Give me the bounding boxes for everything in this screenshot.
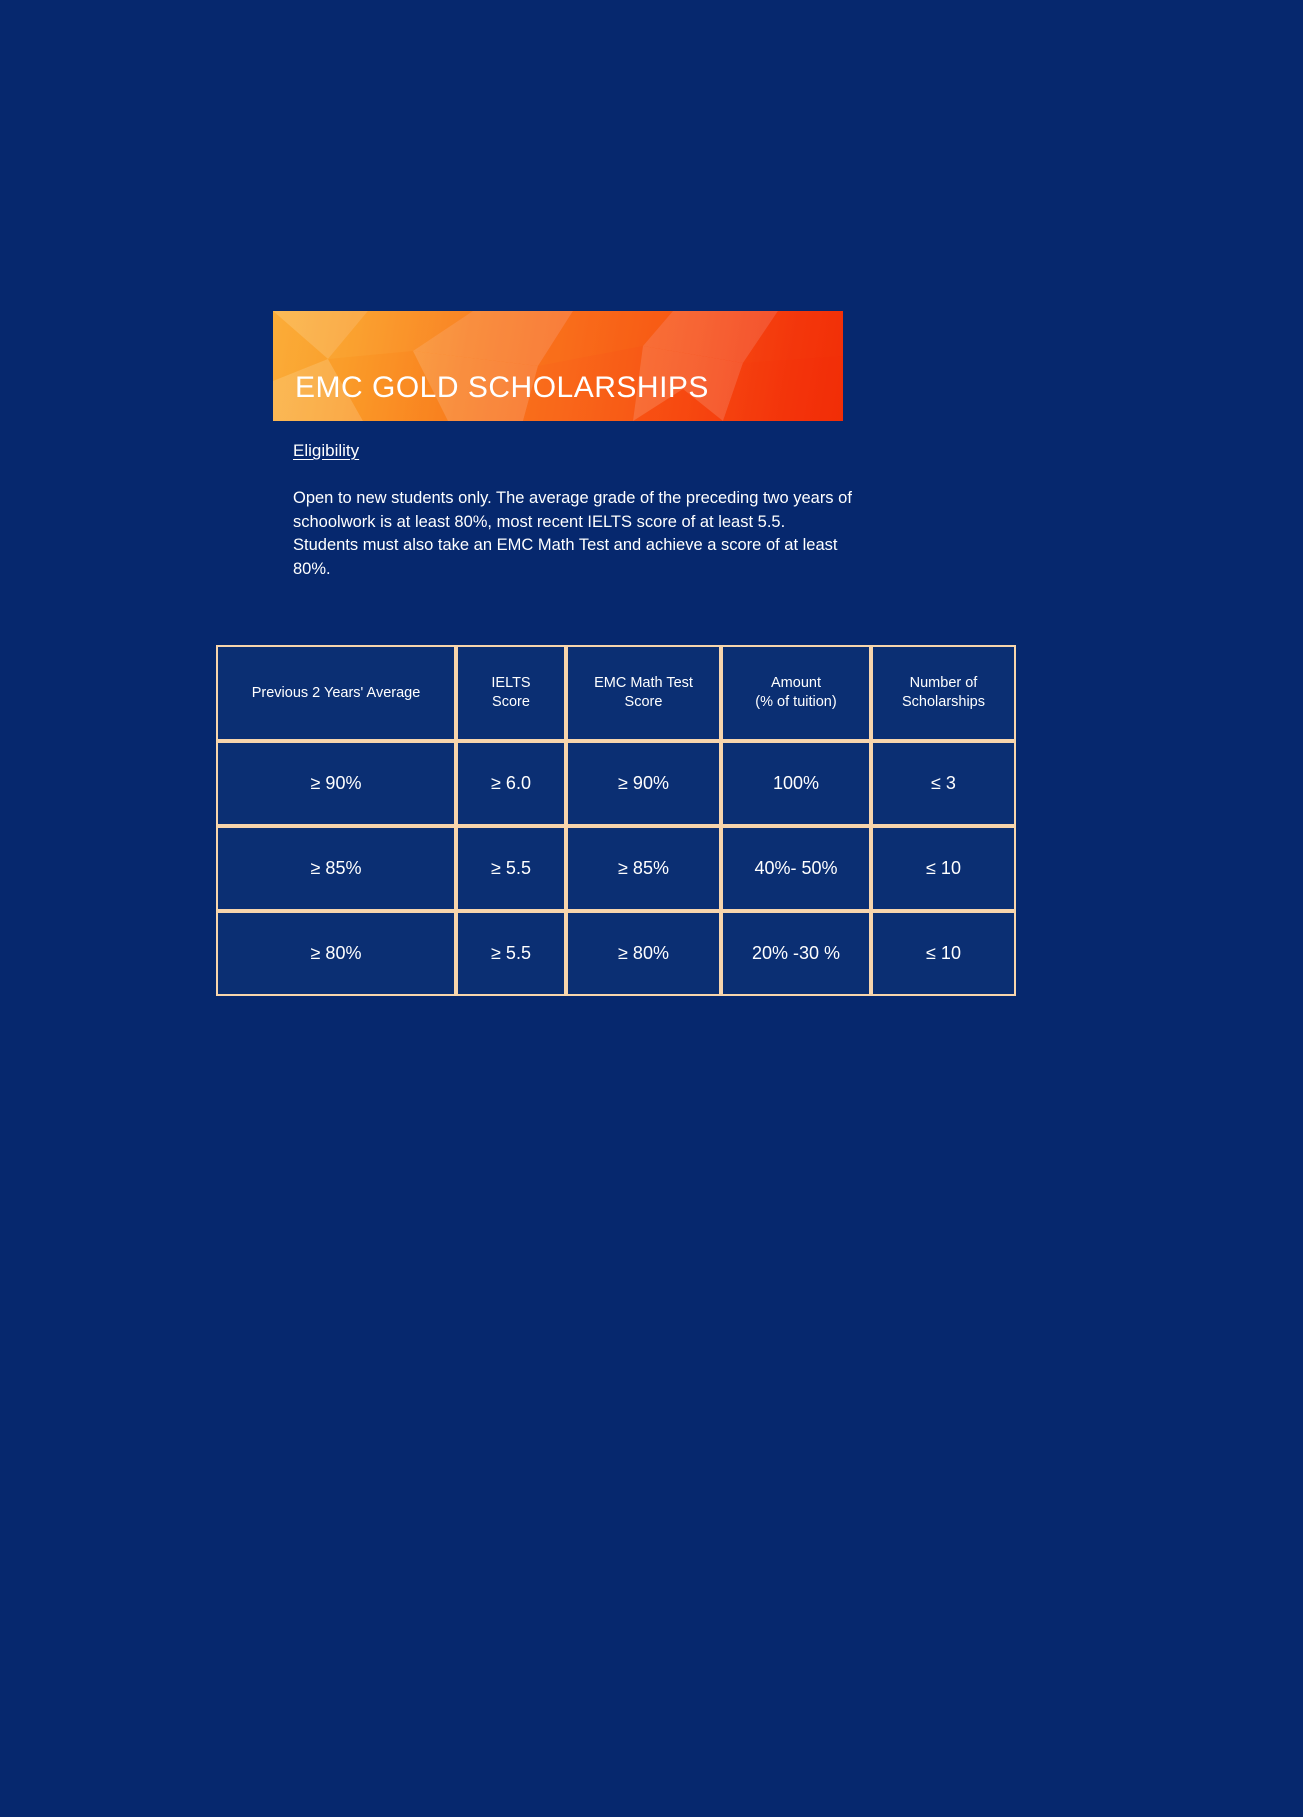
table-row: ≥ 90% ≥ 6.0 ≥ 90% 100% ≤ 3 <box>216 741 1016 826</box>
scholarship-page: EMC GOLD SCHOLARSHIPS Eligibility Open t… <box>0 0 1303 1817</box>
table-row: ≥ 85% ≥ 5.5 ≥ 85% 40%- 50% ≤ 10 <box>216 826 1016 911</box>
cell-previous-average: ≥ 80% <box>216 911 456 996</box>
column-header-line-2: Score <box>458 693 564 712</box>
column-header-line-2: (% of tuition) <box>723 693 869 712</box>
cell-ielts-score: ≥ 5.5 <box>456 911 566 996</box>
cell-amount: 40%- 50% <box>721 826 871 911</box>
column-header-line-1: Previous 2 Years' Average <box>218 684 454 703</box>
cell-amount: 20% -30 % <box>721 911 871 996</box>
column-header-line-2: Scholarships <box>873 693 1014 712</box>
title-banner: EMC GOLD SCHOLARSHIPS <box>273 311 843 421</box>
scholarship-criteria-table: Previous 2 Years' Average IELTS Score EM… <box>216 645 1016 996</box>
column-header-line-2: Score <box>568 693 719 712</box>
cell-ielts-score: ≥ 6.0 <box>456 741 566 826</box>
cell-emc-math-test-score: ≥ 80% <box>566 911 721 996</box>
column-header-line-1: Amount <box>723 674 869 693</box>
cell-number-of-scholarships: ≤ 10 <box>871 911 1016 996</box>
cell-number-of-scholarships: ≤ 10 <box>871 826 1016 911</box>
column-header-line-1: Number of <box>873 674 1014 693</box>
column-header-ielts-score: IELTS Score <box>456 645 566 741</box>
eligibility-heading: Eligibility <box>293 441 359 461</box>
column-header-previous-average: Previous 2 Years' Average <box>216 645 456 741</box>
cell-emc-math-test-score: ≥ 85% <box>566 826 721 911</box>
eligibility-body-text: Open to new students only. The average g… <box>293 487 853 581</box>
column-header-emc-math-test-score: EMC Math Test Score <box>566 645 721 741</box>
table-row: ≥ 80% ≥ 5.5 ≥ 80% 20% -30 % ≤ 10 <box>216 911 1016 996</box>
cell-number-of-scholarships: ≤ 3 <box>871 741 1016 826</box>
cell-emc-math-test-score: ≥ 90% <box>566 741 721 826</box>
page-title: EMC GOLD SCHOLARSHIPS <box>295 371 709 405</box>
cell-ielts-score: ≥ 5.5 <box>456 826 566 911</box>
column-header-line-1: IELTS <box>458 674 564 693</box>
column-header-line-1: EMC Math Test <box>568 674 719 693</box>
column-header-amount: Amount (% of tuition) <box>721 645 871 741</box>
table-header-row: Previous 2 Years' Average IELTS Score EM… <box>216 645 1016 741</box>
cell-amount: 100% <box>721 741 871 826</box>
cell-previous-average: ≥ 85% <box>216 826 456 911</box>
cell-previous-average: ≥ 90% <box>216 741 456 826</box>
column-header-number-of-scholarships: Number of Scholarships <box>871 645 1016 741</box>
